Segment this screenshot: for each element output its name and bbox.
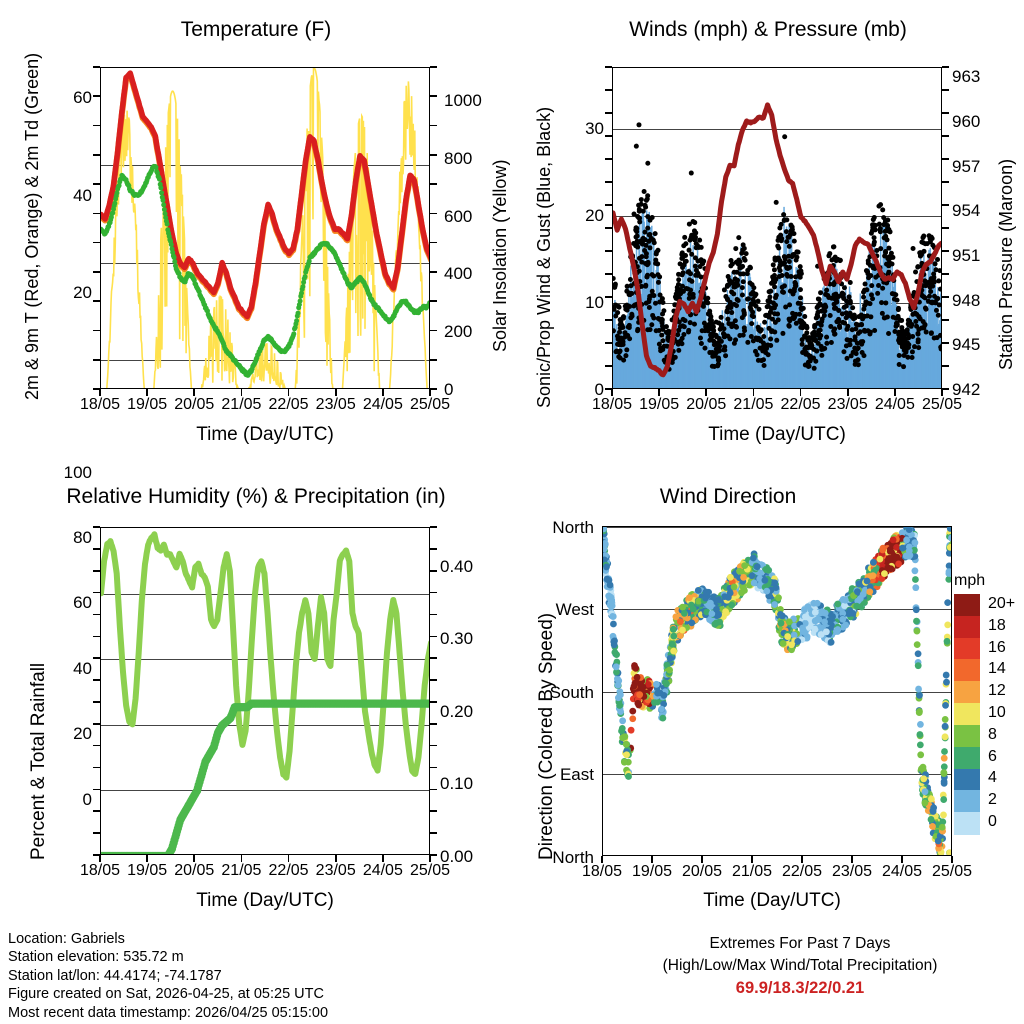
- ytick-mark-left: [605, 365, 612, 367]
- xtick-mark: [193, 389, 195, 396]
- colorbar-band: [954, 659, 980, 681]
- ytick-press-951: 951: [952, 246, 980, 266]
- xtick-mark: [335, 389, 337, 396]
- xtick-mark: [611, 389, 613, 396]
- panel-temperature: Temperature (F) 2m & 9m T (Red, Orange) …: [0, 0, 512, 460]
- ytick-mark-right: [942, 135, 949, 137]
- xtick-label: 25/05: [400, 396, 460, 414]
- ytick-mark-left: [93, 300, 100, 302]
- ytick-mark-left: [93, 592, 100, 594]
- colorbar-band: [954, 725, 980, 747]
- ytick-precip-010: 0.10: [440, 774, 473, 794]
- ytick-temp-40: 40: [40, 186, 92, 206]
- humidity-traces: [101, 528, 430, 855]
- panel-title-winds: Winds (mph) & Pressure (mb): [512, 18, 1024, 42]
- ytick-solar-1000: 1000: [444, 91, 482, 111]
- ytick-mark-left: [605, 66, 612, 68]
- ytick-mark-right: [942, 250, 949, 252]
- ytick-mark-right: [942, 112, 949, 114]
- extremes-value-text: 69.9/18.3/22/0.21: [736, 979, 864, 997]
- ytick-mark-left: [93, 570, 100, 572]
- ytick-precip-040: 0.40: [440, 557, 473, 577]
- ytick-rh-100: 100: [36, 463, 92, 483]
- ytick-dir-south: South: [520, 683, 594, 703]
- ytick-mark-right: [430, 854, 437, 856]
- ytick-mark-right: [942, 365, 949, 367]
- xtick-label: 25/05: [400, 862, 460, 880]
- ytick-mark-right: [430, 95, 437, 97]
- ytick-mark-right: [942, 158, 949, 160]
- ytick-mark-left: [93, 388, 100, 390]
- ytick-mark-right: [942, 66, 949, 68]
- plot-area-winds: [612, 67, 942, 389]
- y-axis-label-wind-direction: Direction (Colored By Speed): [536, 613, 558, 860]
- ytick-mark-left: [605, 227, 612, 229]
- ytick-mark-left: [93, 242, 100, 244]
- ytick-mark-left: [93, 526, 100, 528]
- ytick-mark-left: [93, 213, 100, 215]
- colorbar-tick-label: 6: [988, 748, 997, 766]
- xtick-mark: [901, 856, 903, 863]
- colorbar-band: [954, 703, 980, 725]
- y-axis-label-winds-left: Sonic/Prop Wind & Gust (Blue, Black): [534, 107, 555, 408]
- xtick-mark: [601, 856, 603, 863]
- ytick-mark-right: [430, 636, 437, 638]
- ytick-mark-left: [93, 679, 100, 681]
- x-axis-label-wind-direction: Time (Day/UTC): [602, 890, 942, 912]
- ytick-mark-right: [430, 614, 437, 616]
- y-axis-label-winds-right: Station Pressure (Maroon): [996, 159, 1017, 370]
- xtick-mark: [99, 855, 101, 862]
- colorbar-band: [954, 812, 980, 834]
- xtick-mark: [241, 855, 243, 862]
- ytick-mark-left: [93, 657, 100, 659]
- ytick-mark-right: [430, 810, 437, 812]
- ytick-mark-left: [93, 183, 100, 185]
- ytick-mark-left: [93, 614, 100, 616]
- ytick-mark-right: [942, 342, 949, 344]
- ytick-mark-right: [430, 745, 437, 747]
- weather-dashboard: Temperature (F) 2m & 9m T (Red, Orange) …: [0, 0, 1024, 1024]
- xtick-mark: [193, 855, 195, 862]
- ytick-mark-left: [605, 204, 612, 206]
- ytick-press-963: 963: [952, 67, 980, 87]
- ytick-rh-80: 80: [36, 528, 92, 548]
- xtick-mark: [800, 389, 802, 396]
- panel-title-wind-direction: Wind Direction: [512, 485, 944, 509]
- ytick-mark-right: [430, 271, 437, 273]
- colorbar-tick-label: 14: [988, 660, 1006, 678]
- xtick-label: 25/05: [922, 863, 982, 881]
- ytick-press-954: 954: [952, 201, 980, 221]
- ytick-mark-right: [942, 388, 949, 390]
- colorbar-band: [954, 747, 980, 769]
- y-axis-label-temperature-right: Solar Insolation (Yellow): [490, 160, 511, 352]
- ytick-mark-right: [430, 570, 437, 572]
- ytick-mark-right: [430, 359, 437, 361]
- xtick-mark: [429, 855, 431, 862]
- y-axis-label-humidity-left: Percent & Total Rainfall: [28, 663, 50, 860]
- ytick-solar-600: 600: [444, 207, 472, 227]
- xtick-mark: [851, 856, 853, 863]
- ytick-mark-left: [93, 767, 100, 769]
- ytick-mark-left: [605, 112, 612, 114]
- ytick-mark-left: [93, 723, 100, 725]
- ytick-mark-right: [430, 388, 437, 390]
- ytick-press-957: 957: [952, 157, 980, 177]
- ytick-mark-left: [93, 810, 100, 812]
- ytick-mark-left: [93, 832, 100, 834]
- ytick-mark-right: [430, 330, 437, 332]
- colorbar-tick-label: 0: [988, 813, 997, 831]
- ytick-mark-right: [430, 125, 437, 127]
- winds-traces: [613, 68, 942, 389]
- xtick-mark: [146, 855, 148, 862]
- metadata-location: Location: Gabriels: [8, 930, 125, 949]
- ytick-mark-right: [942, 89, 949, 91]
- ytick-mark-left: [605, 342, 612, 344]
- ytick-mark-right: [942, 273, 949, 275]
- xtick-mark: [753, 389, 755, 396]
- xtick-mark: [658, 389, 660, 396]
- ytick-solar-800: 800: [444, 149, 472, 169]
- ytick-rh-20: 20: [36, 724, 92, 744]
- ytick-press-945: 945: [952, 335, 980, 355]
- ytick-mark-left: [93, 701, 100, 703]
- colorbar-tick-label: 10: [988, 704, 1006, 722]
- ytick-mark-left: [93, 125, 100, 127]
- ytick-rh-0: 0: [36, 790, 92, 810]
- ytick-mark-left: [93, 154, 100, 156]
- ytick-mark-right: [430, 592, 437, 594]
- ytick-mark-right: [430, 657, 437, 659]
- ytick-dir-north-top: North: [520, 518, 594, 538]
- xtick-mark: [847, 389, 849, 396]
- colorbar-tick-label: 12: [988, 682, 1006, 700]
- ytick-mark-right: [430, 723, 437, 725]
- ytick-press-948: 948: [952, 291, 980, 311]
- ytick-mark-right: [942, 296, 949, 298]
- ytick-mark-left: [93, 636, 100, 638]
- ytick-temp-60: 60: [40, 88, 92, 108]
- xtick-label: 25/05: [912, 396, 972, 414]
- panel-title-temperature: Temperature (F): [0, 18, 512, 42]
- ytick-mark-right: [430, 154, 437, 156]
- ytick-mark-left: [605, 388, 612, 390]
- ytick-mark-right: [430, 66, 437, 68]
- x-axis-label-winds: Time (Day/UTC): [612, 424, 942, 446]
- xtick-mark: [951, 856, 953, 863]
- ytick-mark-left: [605, 250, 612, 252]
- xtick-mark: [751, 856, 753, 863]
- colorbar-unit-label: mph: [954, 572, 985, 590]
- ytick-solar-400: 400: [444, 264, 472, 284]
- colorbar-band: [954, 594, 980, 616]
- extremes-subheading: (High/Low/Max Wind/Total Precipitation): [600, 955, 1000, 976]
- xtick-mark: [651, 856, 653, 863]
- ytick-mark-left: [93, 854, 100, 856]
- ytick-wind-10: 10: [552, 293, 604, 313]
- ytick-mark-right: [942, 204, 949, 206]
- ytick-precip-020: 0.20: [440, 702, 473, 722]
- ytick-wind-20: 20: [552, 206, 604, 226]
- wind-direction-scatter: [603, 527, 952, 856]
- plot-area-temperature: [100, 67, 430, 389]
- ytick-mark-right: [942, 181, 949, 183]
- ytick-dir-west: West: [520, 600, 594, 620]
- xtick-mark: [705, 389, 707, 396]
- metadata-elevation: Station elevation: 535.72 m: [8, 948, 184, 967]
- xtick-mark: [288, 855, 290, 862]
- xtick-mark: [146, 389, 148, 396]
- ytick-mark-right: [430, 242, 437, 244]
- xtick-mark: [382, 389, 384, 396]
- xtick-mark: [701, 856, 703, 863]
- ytick-rh-40: 40: [36, 659, 92, 679]
- panel-winds: Winds (mph) & Pressure (mb) Sonic/Prop W…: [512, 0, 1024, 460]
- colorbar-tick-label: 16: [988, 639, 1006, 657]
- ytick-mark-left: [605, 158, 612, 160]
- ytick-mark-left: [605, 296, 612, 298]
- ytick-mark-right: [430, 767, 437, 769]
- temperature-traces: [101, 68, 430, 389]
- ytick-mark-left: [605, 89, 612, 91]
- colorbar-band: [954, 790, 980, 812]
- xtick-mark: [288, 389, 290, 396]
- ytick-mark-left: [605, 181, 612, 183]
- ytick-mark-left: [93, 95, 100, 97]
- extremes-values: 69.9/18.3/22/0.21: [600, 978, 1000, 999]
- ytick-solar-200: 200: [444, 322, 472, 342]
- plot-area-humidity: [100, 527, 430, 855]
- ytick-mark-left: [93, 359, 100, 361]
- ytick-mark-left: [93, 548, 100, 550]
- ytick-mark-left: [93, 271, 100, 273]
- ytick-precip-030: 0.30: [440, 629, 473, 649]
- ytick-mark-right: [430, 832, 437, 834]
- ytick-mark-right: [430, 548, 437, 550]
- ytick-mark-left: [605, 319, 612, 321]
- panel-wind-direction: Wind Direction Direction (Colored By Spe…: [512, 470, 1024, 930]
- wind-speed-colorbar: [954, 594, 980, 834]
- x-axis-label-humidity: Time (Day/UTC): [100, 890, 430, 912]
- colorbar-band: [954, 638, 980, 660]
- ytick-mark-left: [93, 66, 100, 68]
- ytick-press-960: 960: [952, 112, 980, 132]
- panel-title-humidity: Relative Humidity (%) & Precipitation (i…: [0, 485, 512, 509]
- ytick-mark-left: [93, 330, 100, 332]
- ytick-mark-right: [430, 300, 437, 302]
- metadata-figure-created: Figure created on Sat, 2026-04-25, at 05…: [8, 985, 324, 1004]
- ytick-dir-east: East: [520, 765, 594, 785]
- ytick-mark-right: [942, 227, 949, 229]
- extremes-heading: Extremes For Past 7 Days: [600, 933, 1000, 954]
- ytick-mark-right: [430, 701, 437, 703]
- ytick-mark-left: [605, 273, 612, 275]
- ytick-mark-right: [430, 526, 437, 528]
- colorbar-band: [954, 681, 980, 703]
- ytick-mark-left: [605, 135, 612, 137]
- xtick-mark: [429, 389, 431, 396]
- metadata-latlon: Station lat/lon: 44.4174; -74.1787: [8, 967, 222, 986]
- panel-humidity: Relative Humidity (%) & Precipitation (i…: [0, 470, 512, 930]
- ytick-mark-right: [430, 183, 437, 185]
- xtick-mark: [382, 855, 384, 862]
- colorbar-tick-label: 20+: [988, 595, 1015, 613]
- ytick-wind-30: 30: [552, 119, 604, 139]
- xtick-mark: [99, 389, 101, 396]
- xtick-mark: [335, 855, 337, 862]
- xtick-mark: [241, 389, 243, 396]
- x-axis-label-temperature: Time (Day/UTC): [100, 424, 430, 446]
- xtick-mark: [801, 856, 803, 863]
- colorbar-band: [954, 616, 980, 638]
- xtick-mark: [941, 389, 943, 396]
- xtick-mark: [894, 389, 896, 396]
- ytick-temp-20: 20: [40, 283, 92, 303]
- ytick-mark-right: [430, 213, 437, 215]
- ytick-mark-right: [430, 679, 437, 681]
- plot-area-wind-direction: [602, 526, 952, 856]
- ytick-mark-left: [93, 745, 100, 747]
- ytick-mark-left: [93, 789, 100, 791]
- ytick-mark-right: [430, 789, 437, 791]
- colorbar-tick-label: 4: [988, 769, 997, 787]
- colorbar-tick-label: 18: [988, 617, 1006, 635]
- colorbar-tick-label: 2: [988, 791, 997, 809]
- metadata-recent-timestamp: Most recent data timestamp: 2026/04/25 0…: [8, 1004, 328, 1023]
- ytick-rh-60: 60: [36, 593, 92, 613]
- colorbar-tick-label: 8: [988, 726, 997, 744]
- colorbar-band: [954, 769, 980, 791]
- ytick-mark-right: [942, 319, 949, 321]
